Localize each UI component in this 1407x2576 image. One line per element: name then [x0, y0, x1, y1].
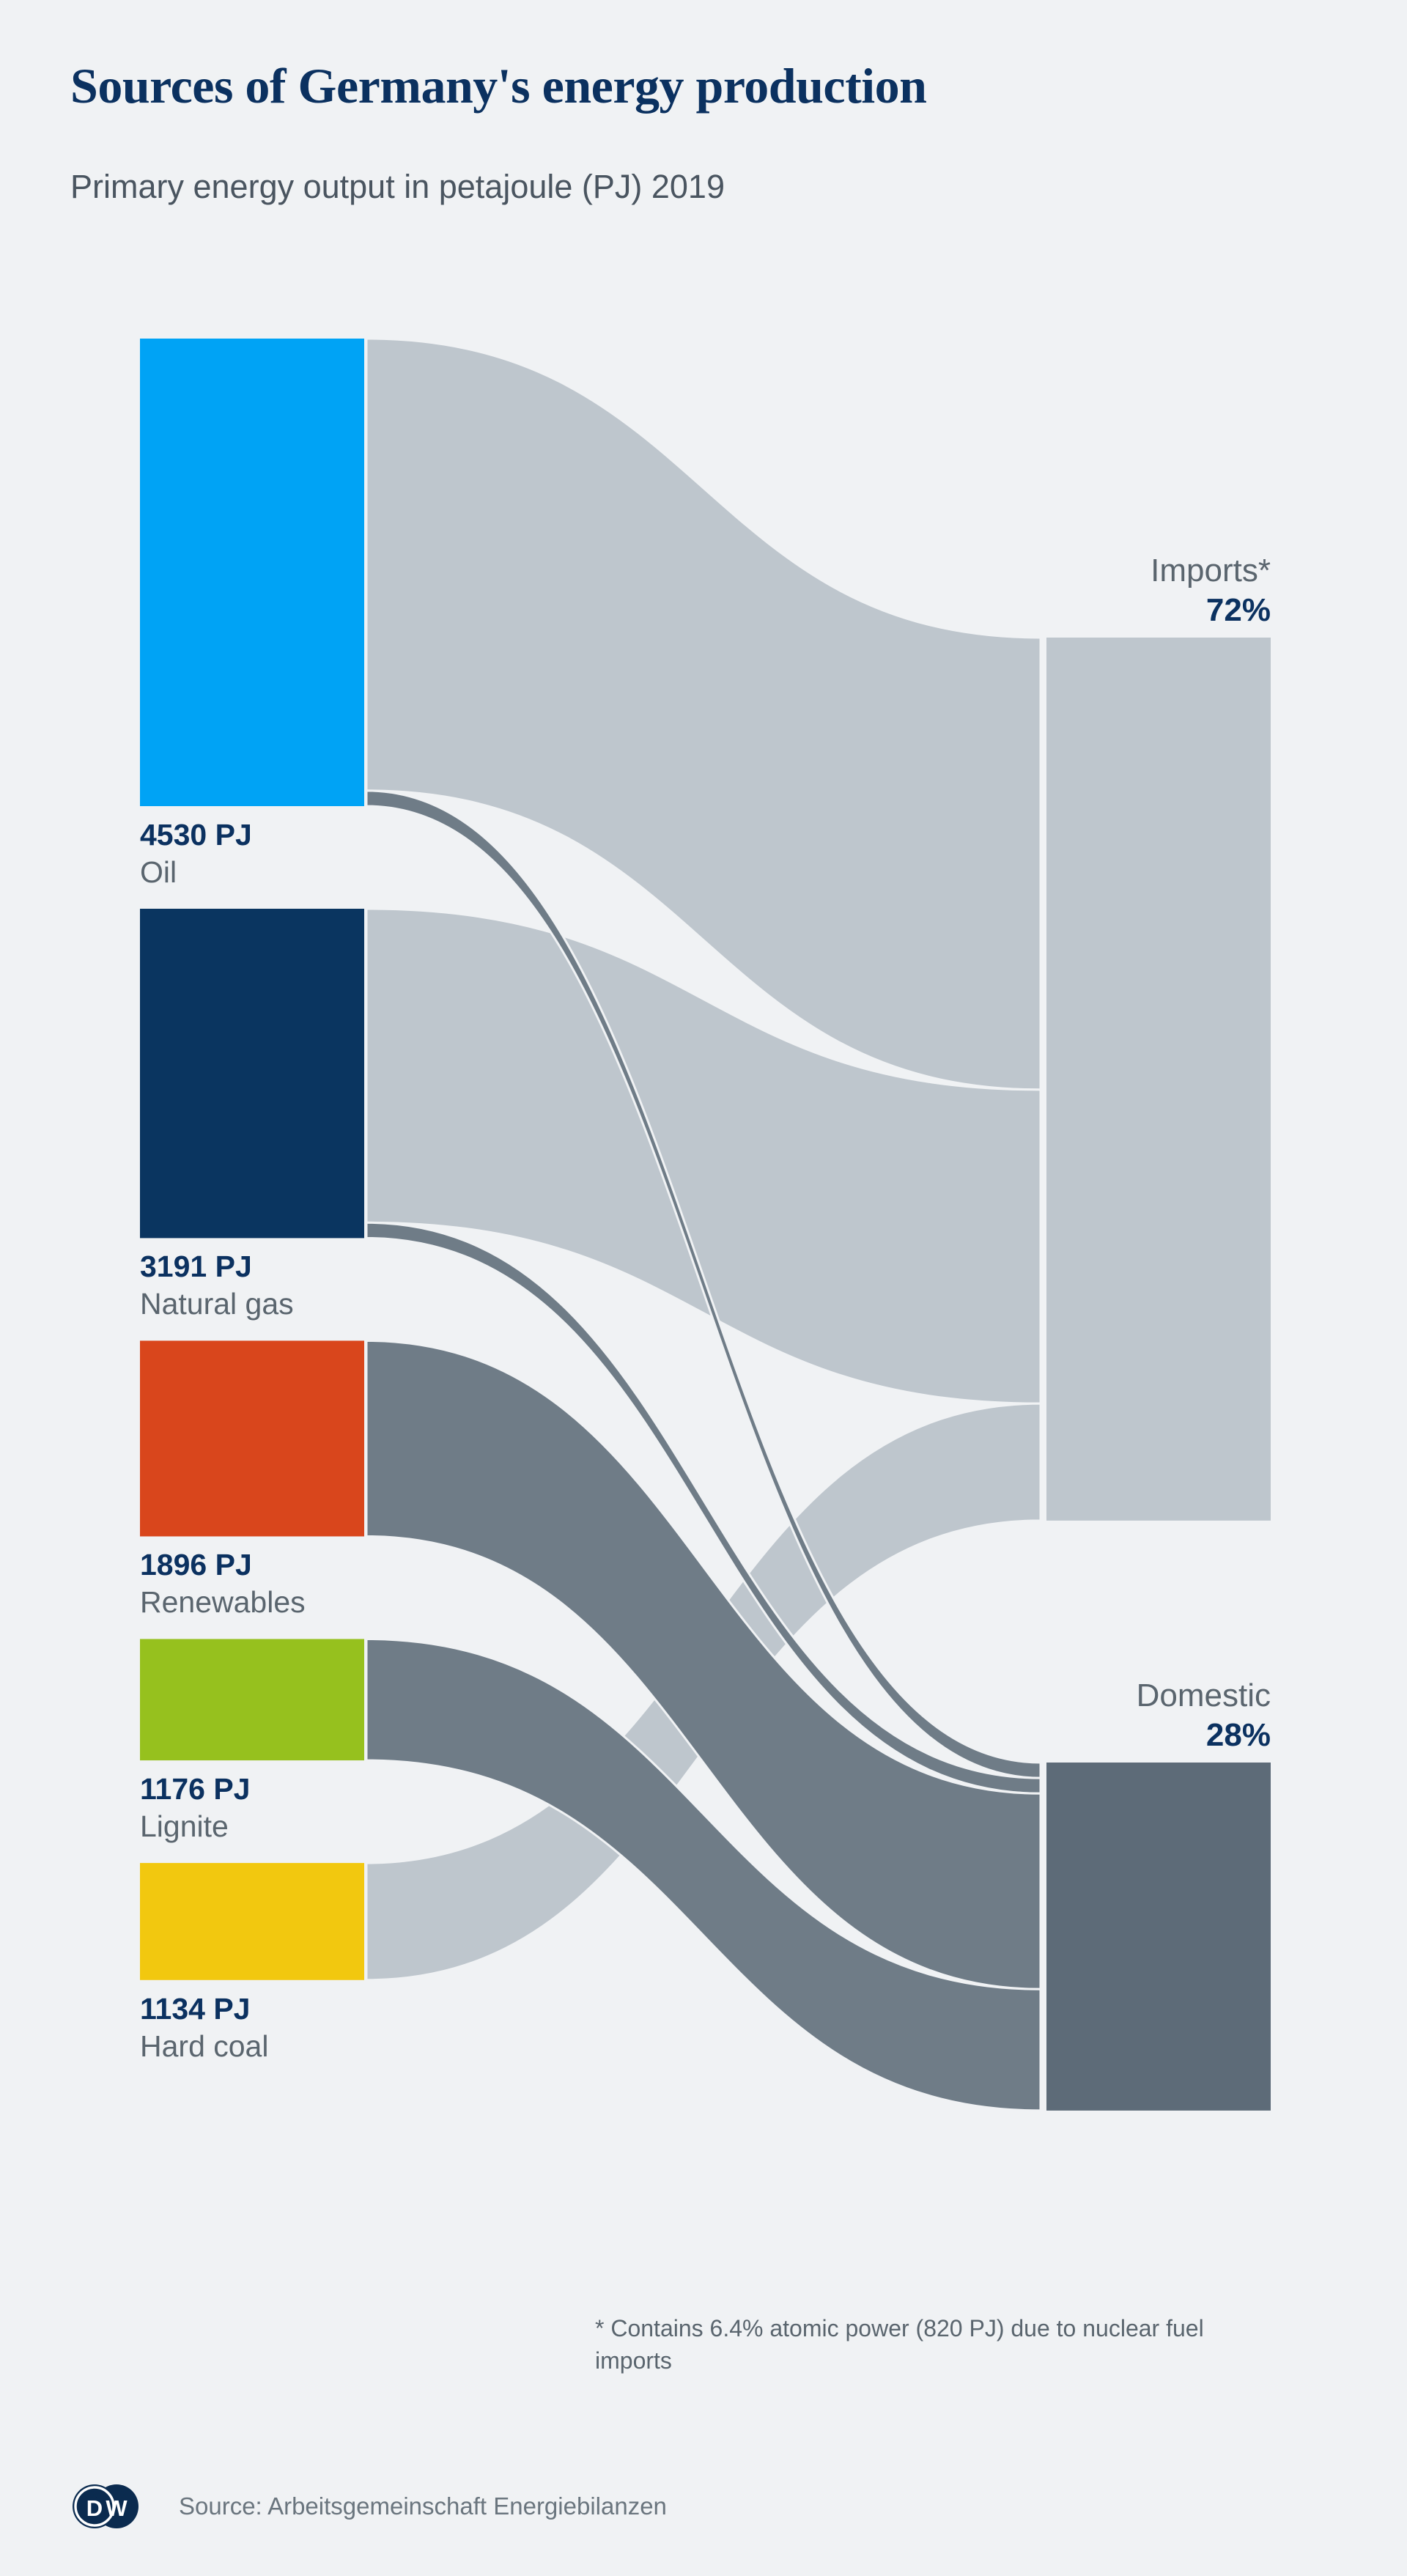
sankey-node-domestic	[1046, 1763, 1271, 2111]
sankey-node-imports	[1046, 638, 1271, 1521]
node-name-domestic: Domestic	[636, 1676, 1271, 1716]
node-label-renewables: 1896 PJ Renewables	[140, 1546, 306, 1621]
node-label-imports: Imports* 72%	[636, 551, 1271, 630]
node-label-oil: 4530 PJ Oil	[140, 816, 252, 891]
footnote: * Contains 6.4% atomic power (820 PJ) du…	[595, 2312, 1284, 2377]
sankey-node-hardcoal	[140, 1863, 364, 1980]
node-label-natural-gas: 3191 PJ Natural gas	[140, 1248, 294, 1323]
node-value-imports: 72%	[636, 591, 1271, 630]
node-value-lignite: 1176 PJ	[140, 1771, 251, 1807]
svg-text:D: D	[86, 2495, 103, 2521]
sankey-node-oil	[140, 339, 364, 806]
dw-logo-icon: D W	[70, 2484, 141, 2529]
source-credit: Source: Arbeitsgemeinschaft Energiebilan…	[179, 2492, 667, 2520]
svg-text:W: W	[106, 2495, 128, 2521]
node-label-hard-coal: 1134 PJ Hard coal	[140, 1990, 268, 2065]
sankey-node-gas	[140, 909, 364, 1238]
node-name-renewables: Renewables	[140, 1583, 306, 1621]
node-value-natural-gas: 3191 PJ	[140, 1248, 294, 1285]
sankey-node-renewables	[140, 1340, 364, 1536]
node-value-hard-coal: 1134 PJ	[140, 1990, 268, 2027]
node-name-imports: Imports*	[636, 551, 1271, 591]
node-name-hard-coal: Hard coal	[140, 2027, 268, 2065]
node-value-renewables: 1896 PJ	[140, 1546, 306, 1583]
node-value-oil: 4530 PJ	[140, 816, 252, 853]
node-name-oil: Oil	[140, 853, 252, 891]
infographic-root: Sources of Germany's energy production P…	[0, 0, 1407, 2576]
node-name-natural-gas: Natural gas	[140, 1285, 294, 1323]
node-name-lignite: Lignite	[140, 1807, 251, 1845]
node-label-lignite: 1176 PJ Lignite	[140, 1771, 251, 1845]
node-value-domestic: 28%	[636, 1716, 1271, 1755]
node-label-domestic: Domestic 28%	[636, 1676, 1271, 1755]
footer: D W Source: Arbeitsgemeinschaft Energieb…	[70, 2473, 1360, 2539]
sankey-node-lignite	[140, 1639, 364, 1760]
